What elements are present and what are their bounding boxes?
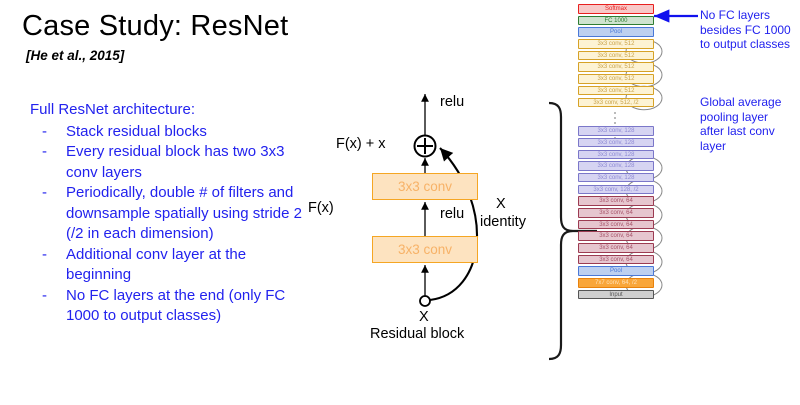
conv-box-bottom: 3x3 conv — [372, 236, 478, 263]
layer-block: FC 1000 — [578, 16, 654, 26]
layer-block: 3x3 conv, 512 — [578, 39, 654, 49]
layer-block: 3x3 conv, 64 — [578, 220, 654, 230]
fx-label: F(x) — [308, 200, 334, 216]
list-item-label: Periodically, double # of filters and do… — [66, 184, 302, 242]
layer-block: Pool — [578, 27, 654, 37]
layer-block: 3x3 conv, 512, /2 — [578, 98, 654, 108]
sum-label: F(x) + x — [336, 136, 386, 152]
layer-block: 3x3 conv, 64 — [578, 196, 654, 206]
layer-list: SoftmaxFC 1000Pool3x3 conv, 5123x3 conv,… — [578, 4, 654, 299]
residual-block-diagram: relu F(x) + x 3x3 conv relu 3x3 conv F(x… — [300, 88, 550, 348]
layer-gap-ellipsis — [578, 109, 654, 126]
list-item: - No FC layers at the end (only FC 1000 … — [30, 286, 310, 327]
annotation-no-fc-layers: No FC layers besides FC 1000 to output c… — [700, 8, 795, 52]
fc-pointer-arrow — [650, 10, 705, 30]
layer-block: Softmax — [578, 4, 654, 14]
layer-block: 7x7 conv, 64, /2 — [578, 278, 654, 288]
conv-box-top: 3x3 conv — [372, 173, 478, 200]
bullet-marker: - — [42, 245, 47, 266]
layer-block: Pool — [578, 266, 654, 276]
layer-block: 3x3 conv, 128, /2 — [578, 185, 654, 195]
layer-block: 3x3 conv, 128 — [578, 126, 654, 136]
list-item-label: Stack residual blocks — [66, 123, 207, 140]
layer-block: 3x3 conv, 64 — [578, 231, 654, 241]
resnet-layer-stack: SoftmaxFC 1000Pool3x3 conv, 5123x3 conv,… — [578, 4, 654, 302]
slide-canvas: Case Study: ResNet [He et al., 2015] Ful… — [0, 0, 800, 405]
relu-top-label: relu — [440, 94, 464, 110]
layer-block: 3x3 conv, 512 — [578, 86, 654, 96]
bullet-marker: - — [42, 122, 47, 143]
layer-block: 3x3 conv, 128 — [578, 173, 654, 183]
list-item-label: No FC layers at the end (only FC 1000 to… — [66, 287, 285, 325]
bullet-items: - Stack residual blocks - Every residual… — [30, 122, 310, 327]
relu-mid-label: relu — [440, 206, 464, 222]
layer-block: 3x3 conv, 128 — [578, 161, 654, 171]
residual-block-caption: Residual block — [370, 326, 464, 342]
list-item: - Every residual block has two 3x3 conv … — [30, 142, 310, 183]
list-item: - Additional conv layer at the beginning — [30, 245, 310, 286]
bullet-list: Full ResNet architecture: - Stack residu… — [30, 100, 310, 327]
list-item-label: Every residual block has two 3x3 conv la… — [66, 143, 284, 181]
list-item: - Stack residual blocks — [30, 122, 310, 143]
layer-block: 3x3 conv, 128 — [578, 138, 654, 148]
list-item: - Periodically, double # of filters and … — [30, 183, 310, 245]
bullet-marker: - — [42, 286, 47, 307]
layer-block: 3x3 conv, 64 — [578, 255, 654, 265]
identity-label-text: identity — [480, 214, 526, 230]
page-title: Case Study: ResNet — [22, 10, 288, 43]
input-label-x: X — [419, 309, 429, 325]
citation: [He et al., 2015] — [26, 48, 124, 63]
bullet-marker: - — [42, 142, 47, 163]
annotation-global-avg-pool: Global average pooling layer after last … — [700, 95, 795, 153]
layer-block: 3x3 conv, 512 — [578, 51, 654, 61]
bullet-marker: - — [42, 183, 47, 204]
identity-label-x: X — [496, 196, 506, 212]
layer-block: 3x3 conv, 64 — [578, 208, 654, 218]
layer-block: 3x3 conv, 128 — [578, 150, 654, 160]
list-item-label: Additional conv layer at the beginning — [66, 246, 246, 284]
layer-block: 3x3 conv, 512 — [578, 62, 654, 72]
bullet-heading: Full ResNet architecture: — [30, 100, 310, 121]
layer-block: 3x3 conv, 512 — [578, 74, 654, 84]
layer-block: Input — [578, 290, 654, 300]
layer-block: 3x3 conv, 64 — [578, 243, 654, 253]
